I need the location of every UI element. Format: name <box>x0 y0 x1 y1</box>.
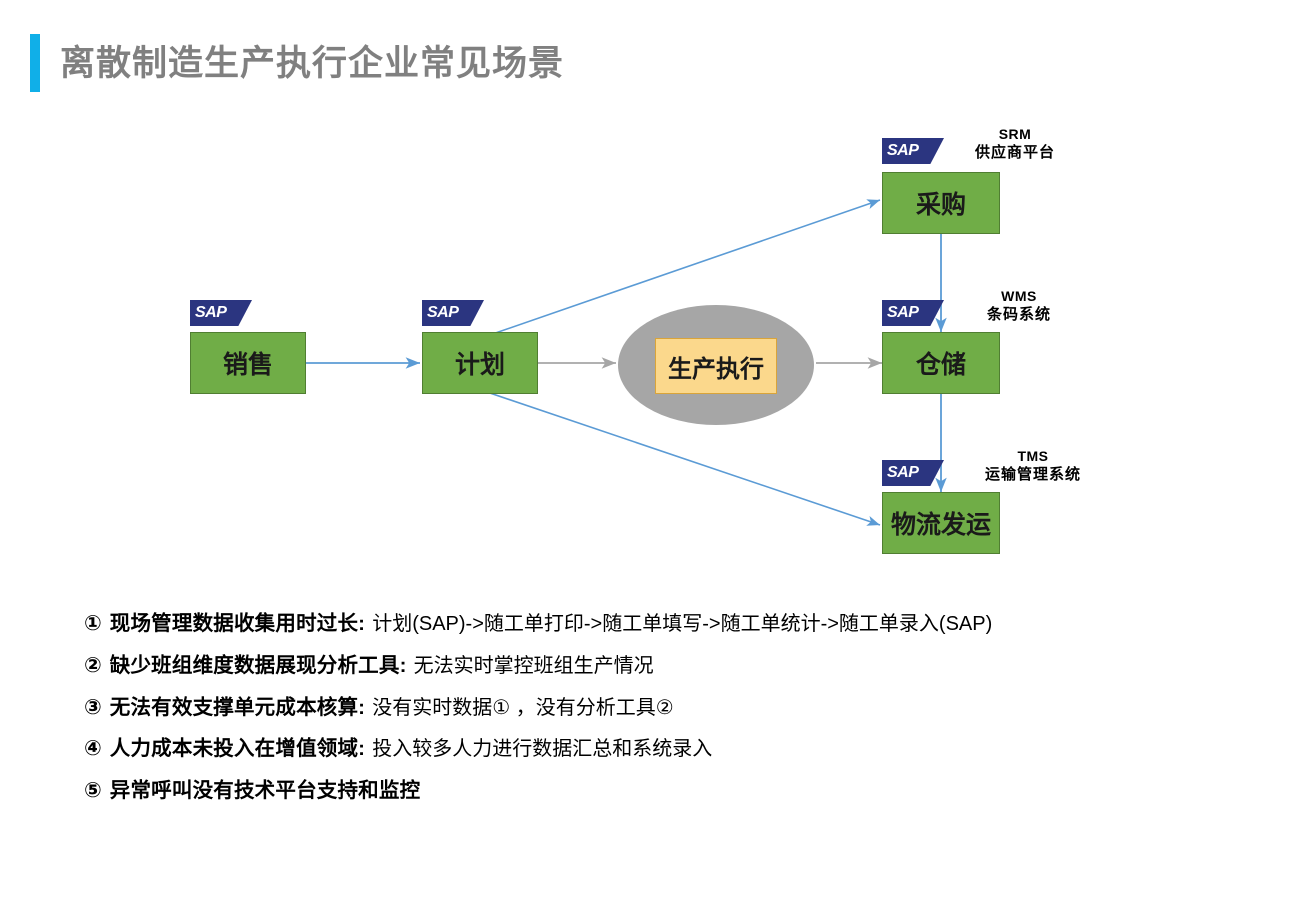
issue-marker: ④ <box>84 733 102 765</box>
node-plan-label: 计划 <box>455 345 505 381</box>
issue-heading: 现场管理数据收集用时过长: <box>110 609 365 640</box>
node-logistics[interactable]: 物流发运 <box>882 492 1000 554</box>
issue-heading: 人力成本未投入在增值领域: <box>110 734 365 765</box>
node-warehouse-label: 仓储 <box>916 345 966 381</box>
sap-logo-icon-sales: SAP <box>190 300 252 326</box>
node-plan[interactable]: 计划 <box>422 332 538 394</box>
issue-marker: ② <box>84 650 102 682</box>
list-item: ③ 无法有效支撑单元成本核算: 没有实时数据① ，没有分析工具② <box>84 692 1264 724</box>
list-item: ④ 人力成本未投入在增值领域: 投入较多人力进行数据汇总和系统录入 <box>84 733 1264 765</box>
sap-logo-icon-plan: SAP <box>422 300 484 326</box>
title-accent-bar <box>30 34 40 92</box>
system-label-srm: SRM 供应商平台 <box>940 126 1090 162</box>
system-label-srm-abbr: SRM <box>940 126 1090 144</box>
system-label-tms: TMS 运输管理系统 <box>948 448 1118 484</box>
system-label-wms-abbr: WMS <box>944 288 1094 306</box>
page-title: 离散制造生产执行企业常见场景 <box>60 46 564 81</box>
node-execution-label: 生产执行 <box>668 349 764 384</box>
process-flow-diagram: SAP 销售 SAP 计划 生产执行 SAP SRM 供应商平台 采购 SAP … <box>0 110 1300 590</box>
issue-marker: ⑤ <box>84 775 102 807</box>
sap-logo-icon-purchase: SAP <box>882 138 944 164</box>
issue-list: ① 现场管理数据收集用时过长: 计划(SAP)->随工单打印->随工单填写->随… <box>84 608 1264 817</box>
page-header: 离散制造生产执行企业常见场景 <box>30 32 564 94</box>
issue-description: 计划(SAP)->随工单打印->随工单填写->随工单统计->随工单录入(SAP) <box>372 609 992 639</box>
sap-logo-text: SAP <box>190 305 226 321</box>
issue-description: 无法实时掌控班组生产情况 <box>414 651 654 681</box>
issue-heading: 异常呼叫没有技术平台支持和监控 <box>110 776 421 807</box>
system-label-tms-name: 运输管理系统 <box>948 466 1118 485</box>
sap-logo-text: SAP <box>882 143 918 159</box>
list-item: ⑤ 异常呼叫没有技术平台支持和监控 <box>84 775 1264 807</box>
sap-logo-icon-warehouse: SAP <box>882 300 944 326</box>
issue-marker: ③ <box>84 692 102 724</box>
issue-description: 投入较多人力进行数据汇总和系统录入 <box>372 734 712 764</box>
list-item: ② 缺少班组维度数据展现分析工具: 无法实时掌控班组生产情况 <box>84 650 1264 682</box>
issue-marker: ① <box>84 608 102 640</box>
issue-description: 没有实时数据① ，没有分析工具② <box>372 693 673 723</box>
node-sales-label: 销售 <box>223 345 273 381</box>
issue-heading: 无法有效支撑单元成本核算: <box>110 693 365 724</box>
list-item: ① 现场管理数据收集用时过长: 计划(SAP)->随工单打印->随工单填写->随… <box>84 608 1264 640</box>
node-warehouse[interactable]: 仓储 <box>882 332 1000 394</box>
sap-logo-icon-logistics: SAP <box>882 460 944 486</box>
system-label-tms-abbr: TMS <box>948 448 1118 466</box>
node-execution[interactable]: 生产执行 <box>655 338 777 394</box>
node-purchase[interactable]: 采购 <box>882 172 1000 234</box>
system-label-srm-name: 供应商平台 <box>940 144 1090 163</box>
sap-logo-text: SAP <box>882 465 918 481</box>
node-logistics-label: 物流发运 <box>891 505 991 541</box>
node-purchase-label: 采购 <box>916 185 966 221</box>
sap-logo-text: SAP <box>882 305 918 321</box>
node-sales[interactable]: 销售 <box>190 332 306 394</box>
system-label-wms: WMS 条码系统 <box>944 288 1094 324</box>
system-label-wms-name: 条码系统 <box>944 306 1094 325</box>
sap-logo-text: SAP <box>422 305 458 321</box>
issue-heading: 缺少班组维度数据展现分析工具: <box>110 651 407 682</box>
